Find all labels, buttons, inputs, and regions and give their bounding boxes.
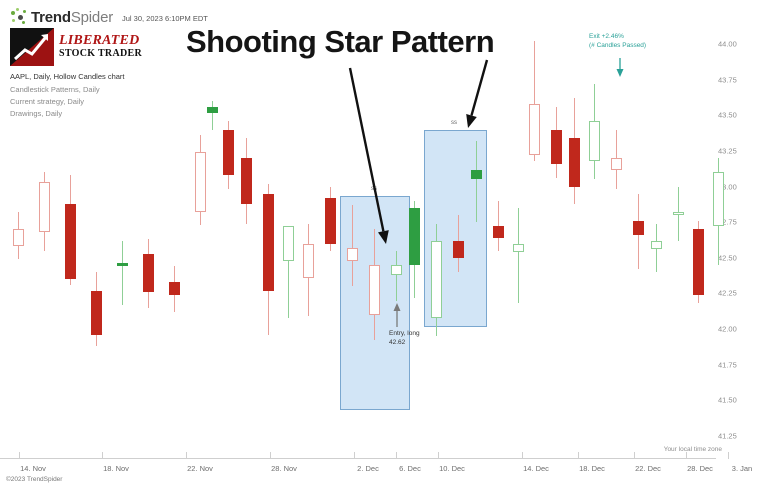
x-axis-tick bbox=[686, 452, 687, 459]
candlestick bbox=[117, 241, 128, 305]
candle-body bbox=[195, 152, 206, 212]
candlestick bbox=[633, 194, 644, 269]
x-axis-tick bbox=[19, 452, 20, 459]
pattern-label: ss bbox=[371, 186, 377, 192]
candlestick bbox=[529, 41, 540, 161]
y-axis-label: 42.75 bbox=[718, 218, 762, 227]
timezone-note: Your local time zone bbox=[664, 446, 722, 453]
candle-wick bbox=[212, 101, 213, 129]
candle-wick bbox=[122, 241, 123, 305]
x-axis-tick bbox=[102, 452, 103, 459]
y-axis-label: 43.00 bbox=[718, 182, 762, 191]
candlestick bbox=[611, 130, 622, 190]
candlestick bbox=[589, 84, 600, 179]
y-axis-label: 41.25 bbox=[718, 431, 762, 440]
candle-wick bbox=[518, 208, 519, 303]
exit-annotation: Exit +2.46%(# Candles Passed) bbox=[589, 33, 646, 51]
candle-body bbox=[529, 104, 540, 155]
candlestick bbox=[303, 224, 314, 317]
x-axis-label: 14. Nov bbox=[20, 464, 46, 473]
candle-body bbox=[117, 263, 128, 266]
x-axis-tick bbox=[634, 452, 635, 459]
candle-body bbox=[589, 121, 600, 161]
candle-body bbox=[263, 194, 274, 291]
candle-body bbox=[673, 212, 684, 215]
candlestick bbox=[369, 229, 380, 340]
candle-body bbox=[713, 172, 724, 226]
candle-wick bbox=[396, 251, 397, 301]
candlestick bbox=[143, 239, 154, 307]
y-axis-label: 43.25 bbox=[718, 147, 762, 156]
entry-annotation-line-1: Entry, long bbox=[389, 330, 420, 339]
y-axis-label: 41.75 bbox=[718, 360, 762, 369]
x-axis-tick bbox=[522, 452, 523, 459]
chart-screenshot: TrendSpider Jul 30, 2023 6:10PM EDT LIBE… bbox=[0, 0, 768, 490]
candlestick bbox=[391, 251, 402, 301]
y-axis-label: 43.75 bbox=[718, 75, 762, 84]
candlestick bbox=[263, 184, 274, 335]
candle-body bbox=[65, 204, 76, 279]
candle-body bbox=[207, 107, 218, 113]
candlestick bbox=[431, 224, 442, 336]
candle-body bbox=[169, 282, 180, 295]
candlestick bbox=[513, 208, 524, 303]
y-axis-label: 44.00 bbox=[718, 40, 762, 49]
entry-annotation-line-2: 42.62 bbox=[389, 339, 420, 348]
y-axis-label: 42.50 bbox=[718, 253, 762, 262]
x-axis-tick bbox=[354, 452, 355, 459]
candlestick bbox=[39, 172, 50, 250]
x-axis-tick bbox=[396, 452, 397, 459]
x-axis-tick bbox=[270, 452, 271, 459]
y-axis-label: 41.50 bbox=[718, 396, 762, 405]
candle-body bbox=[325, 198, 336, 244]
candlestick bbox=[347, 205, 358, 286]
candlestick bbox=[651, 224, 662, 272]
x-axis-label: 18. Nov bbox=[103, 464, 129, 473]
x-axis-label: 28. Nov bbox=[271, 464, 297, 473]
y-axis-label: 42.25 bbox=[718, 289, 762, 298]
x-axis-tick bbox=[438, 452, 439, 459]
candle-body bbox=[453, 241, 464, 258]
candle-body bbox=[39, 182, 50, 232]
candle-body bbox=[283, 226, 294, 260]
candlestick bbox=[693, 221, 704, 304]
candle-body bbox=[551, 130, 562, 164]
candlestick bbox=[409, 201, 420, 298]
candlestick bbox=[223, 121, 234, 189]
candlestick bbox=[493, 201, 504, 251]
exit-annotation-line-2: (# Candles Passed) bbox=[589, 42, 646, 51]
candle-body bbox=[13, 229, 24, 246]
candlestick-plot: 44.0043.7543.5043.2543.0042.7542.5042.25… bbox=[0, 0, 768, 460]
y-axis-label: 42.00 bbox=[718, 324, 762, 333]
candlestick bbox=[569, 98, 580, 203]
x-axis-label: 22. Nov bbox=[187, 464, 213, 473]
candlestick bbox=[65, 175, 76, 285]
candlestick bbox=[195, 135, 206, 225]
x-axis-label: 22. Dec bbox=[635, 464, 661, 473]
x-axis-label: 10. Dec bbox=[439, 464, 465, 473]
candle-wick bbox=[476, 141, 477, 222]
candle-body bbox=[391, 265, 402, 275]
candlestick bbox=[283, 241, 294, 318]
exit-annotation-line-1: Exit +2.46% bbox=[589, 33, 646, 42]
candlestick bbox=[713, 158, 724, 265]
x-axis-label: 2. Dec bbox=[357, 464, 379, 473]
candlestick bbox=[207, 101, 218, 129]
candle-body bbox=[347, 248, 358, 261]
x-axis-tick bbox=[578, 452, 579, 459]
candlestick bbox=[551, 107, 562, 178]
candle-body bbox=[651, 241, 662, 250]
candlestick bbox=[13, 212, 24, 259]
candle-body bbox=[223, 130, 234, 176]
candlestick bbox=[471, 141, 482, 222]
candle-body bbox=[633, 221, 644, 235]
x-axis-tick bbox=[728, 452, 729, 459]
candlestick bbox=[241, 138, 252, 223]
candlestick bbox=[91, 272, 102, 346]
copyright: ©2023 TrendSpider bbox=[6, 476, 62, 483]
candle-body bbox=[369, 265, 380, 315]
candlestick bbox=[673, 187, 684, 241]
x-axis-label: 3. Jan bbox=[732, 464, 752, 473]
candle-body bbox=[91, 291, 102, 335]
x-axis-line bbox=[0, 458, 716, 459]
y-axis-label: 43.50 bbox=[718, 111, 762, 120]
x-axis-label: 14. Dec bbox=[523, 464, 549, 473]
candle-body bbox=[693, 229, 704, 294]
entry-annotation: Entry, long42.62 bbox=[389, 330, 420, 348]
candle-body bbox=[513, 244, 524, 253]
candle-body bbox=[611, 158, 622, 169]
pattern-label: ss bbox=[451, 120, 457, 126]
x-axis-label: 28. Dec bbox=[687, 464, 713, 473]
candle-body bbox=[493, 226, 504, 237]
x-axis-tick bbox=[186, 452, 187, 459]
candle-body bbox=[409, 208, 420, 265]
candle-body bbox=[431, 241, 442, 318]
candle-body bbox=[471, 170, 482, 180]
candlestick bbox=[453, 215, 464, 272]
candle-body bbox=[303, 244, 314, 278]
candle-body bbox=[143, 254, 154, 292]
candlestick bbox=[325, 187, 336, 251]
x-axis-label: 18. Dec bbox=[579, 464, 605, 473]
candle-body bbox=[569, 138, 580, 186]
candlestick bbox=[169, 266, 180, 312]
x-axis-label: 6. Dec bbox=[399, 464, 421, 473]
candle-wick bbox=[352, 205, 353, 286]
candle-body bbox=[241, 158, 252, 204]
